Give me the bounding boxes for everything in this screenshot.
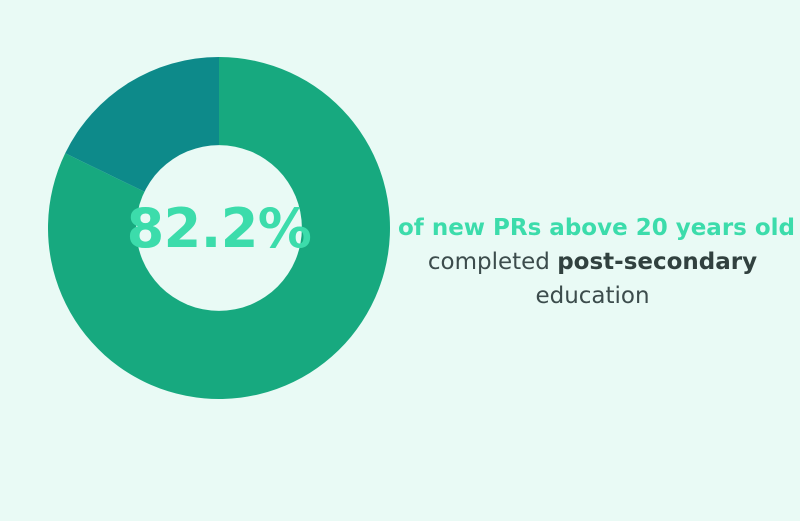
caption-headline: of new PRs above 20 years old <box>398 211 787 245</box>
infographic-canvas: 82.2% of new PRs above 20 years old comp… <box>0 0 800 521</box>
donut-hole <box>136 145 302 311</box>
caption-line-2-emphasis: post-secondary <box>557 249 757 275</box>
caption-block: of new PRs above 20 years old completed … <box>398 211 787 313</box>
donut-chart-svg <box>48 57 390 399</box>
caption-line-3: education <box>398 279 787 313</box>
caption-line-2: completed post-secondary <box>398 245 787 279</box>
donut-chart: 82.2% <box>48 57 390 399</box>
caption-line-2-prefix: completed <box>428 249 557 275</box>
